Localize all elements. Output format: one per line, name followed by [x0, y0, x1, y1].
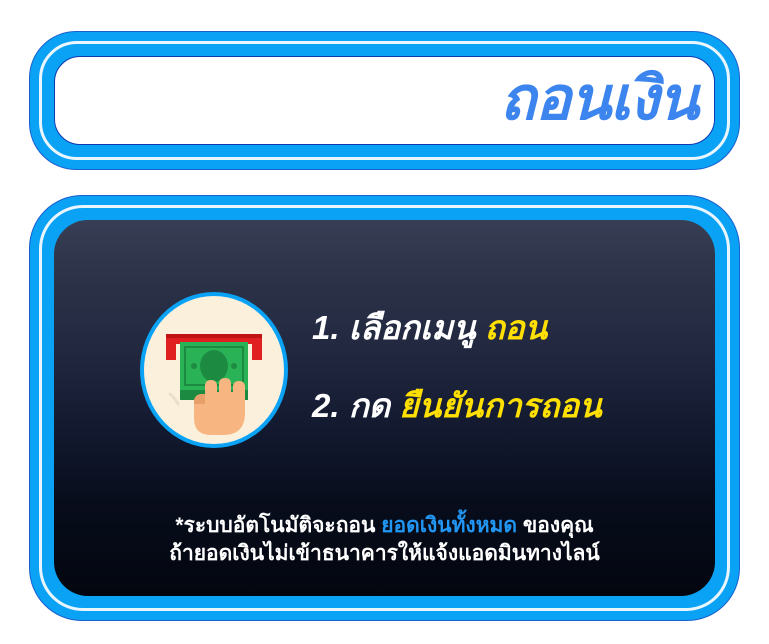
step-1-number: 1. [312, 309, 340, 346]
instruction-panel-frame: 1. เลือกเมนู ถอน 2. กด ยืนยันการถอน *ระบ… [30, 196, 739, 620]
atm-cash-withdraw-icon [138, 290, 290, 450]
step-1-highlight: ถอน [485, 309, 547, 346]
footnote-line-1-prefix: *ระบบอัตโนมัติจะถอน [175, 514, 375, 537]
footnote-line-1-suffix: ของคุณ [523, 514, 594, 537]
footnote-line-1-highlight: ยอดเงินทั้งหมด [381, 514, 517, 537]
instruction-panel-body: 1. เลือกเมนู ถอน 2. กด ยืนยันการถอน *ระบ… [54, 220, 715, 596]
footnote-line-1: *ระบบอัตโนมัติจะถอน ยอดเงินทั้งหมด ของคุ… [54, 512, 715, 540]
header-title-plate: ถอนเงิน [54, 56, 715, 145]
footnote: *ระบบอัตโนมัติจะถอน ยอดเงินทั้งหมด ของคุ… [54, 512, 715, 569]
footnote-line-2: ถ้ายอดเงินไม่เข้าธนาคารให้แจ้งแอดมินทางไ… [54, 540, 715, 568]
header-frame: ถอนเงิน [30, 32, 739, 169]
step-2: 2. กด ยืนยันการถอน [312, 388, 715, 424]
promo-banner-stage: ถอนเงิน [0, 0, 769, 644]
step-2-highlight: ยืนยันการถอน [399, 387, 601, 424]
steps-list: 1. เลือกเมนู ถอน 2. กด ยืนยันการถอน [312, 310, 715, 425]
step-2-number: 2. [312, 387, 340, 424]
step-2-text: กด [349, 387, 390, 424]
step-1: 1. เลือกเมนู ถอน [312, 310, 715, 346]
step-1-text: เลือกเมนู [349, 309, 476, 346]
page-title: ถอนเงิน [500, 69, 714, 129]
